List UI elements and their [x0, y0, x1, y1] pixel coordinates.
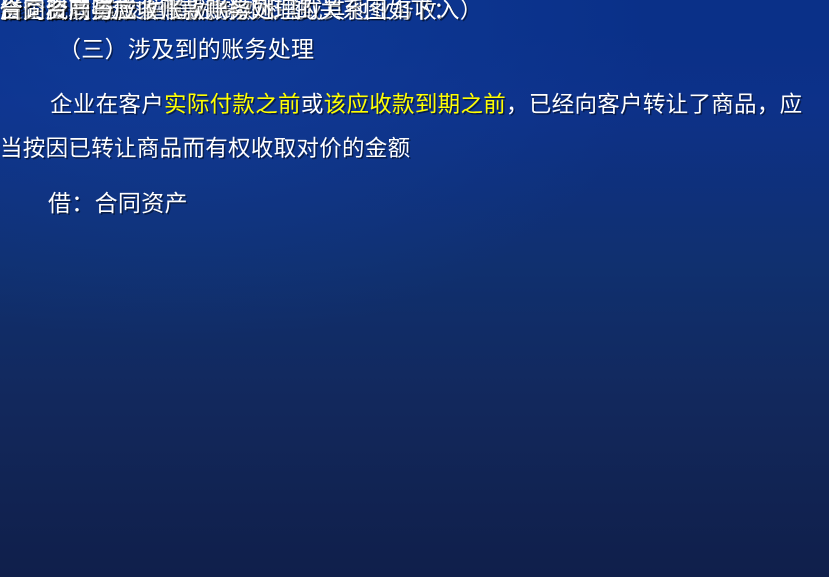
paragraph-conjunction: 或 — [301, 92, 324, 117]
paragraph-line-2: 当按因已转让商品而有权收取对价的金额 — [0, 138, 410, 161]
paragraph-text-segment: 企业在客户 — [50, 92, 164, 117]
presentation-slide: （三）涉及到的账务处理 企业在客户实际付款之前或该应收款到期之前，已经向客户转让… — [0, 0, 829, 577]
journal-entry-debit-contract-asset: 借：合同资产 — [48, 192, 188, 215]
slide-heading: （三）涉及到的账务处理 — [58, 38, 314, 61]
closing-line: 合同资产与应收账款账务处理的关系图如下： — [0, 0, 456, 23]
paragraph-text-segment-tail: ，已经向客户转让了商品，应 — [506, 92, 802, 117]
paragraph-line-1: 企业在客户实际付款之前或该应收款到期之前，已经向客户转让了商品，应 — [50, 94, 802, 117]
paragraph-highlight-receivable-due: 该应收款到期之前 — [324, 92, 506, 117]
paragraph-highlight-payment-before: 实际付款之前 — [164, 92, 301, 117]
